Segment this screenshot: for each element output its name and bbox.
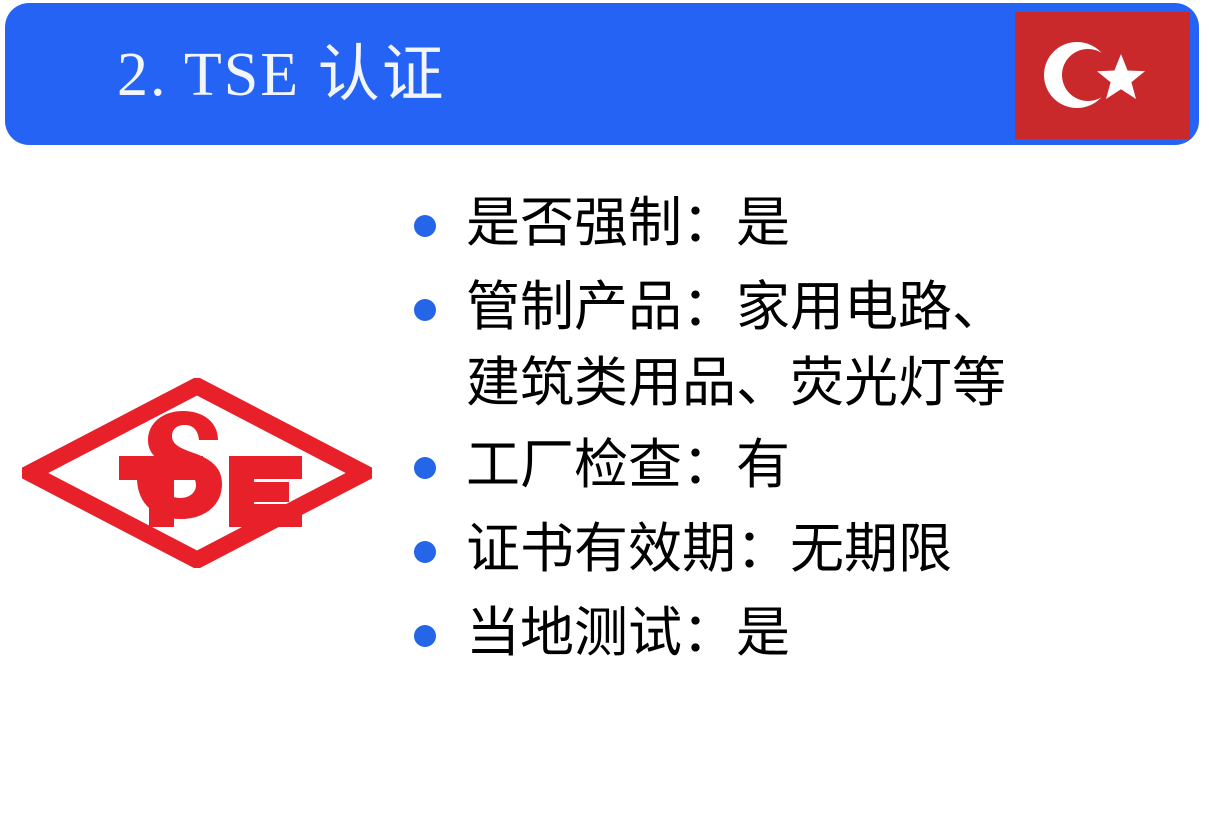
list-item-label: 工厂检查：有	[466, 427, 1198, 503]
bullet-list: 是否强制：是 管制产品：家用电路、 建筑类用品、荧光灯等 工厂检查：有 证书有效…	[408, 185, 1198, 679]
bullet-dot-icon	[414, 215, 436, 237]
turkey-flag-icon	[1015, 12, 1190, 139]
list-item-label: 是否强制：是	[466, 185, 1198, 261]
bullet-dot-icon	[414, 457, 436, 479]
list-item: 工厂检查：有	[408, 427, 1198, 503]
list-item-label: 当地测试：是	[466, 595, 1198, 671]
list-item: 证书有效期：无期限	[408, 511, 1198, 587]
bullet-dot-icon	[414, 541, 436, 563]
list-item-label: 管制产品：家用电路、 建筑类用品、荧光灯等	[466, 269, 1198, 421]
slide-header-bar: 2. TSE 认证	[5, 3, 1199, 145]
tse-logo	[22, 378, 372, 568]
list-item: 当地测试：是	[408, 595, 1198, 671]
slide-canvas: 2. TSE 认证	[0, 0, 1209, 813]
page-title: 2. TSE 认证	[117, 33, 446, 117]
list-item-label: 证书有效期：无期限	[466, 511, 1198, 587]
list-item: 管制产品：家用电路、 建筑类用品、荧光灯等	[408, 269, 1198, 421]
tse-logo-graphic	[22, 378, 372, 568]
bullet-dot-icon	[414, 625, 436, 647]
list-item: 是否强制：是	[408, 185, 1198, 261]
bullet-dot-icon	[414, 299, 436, 321]
turkey-flag-graphic	[1015, 12, 1190, 139]
